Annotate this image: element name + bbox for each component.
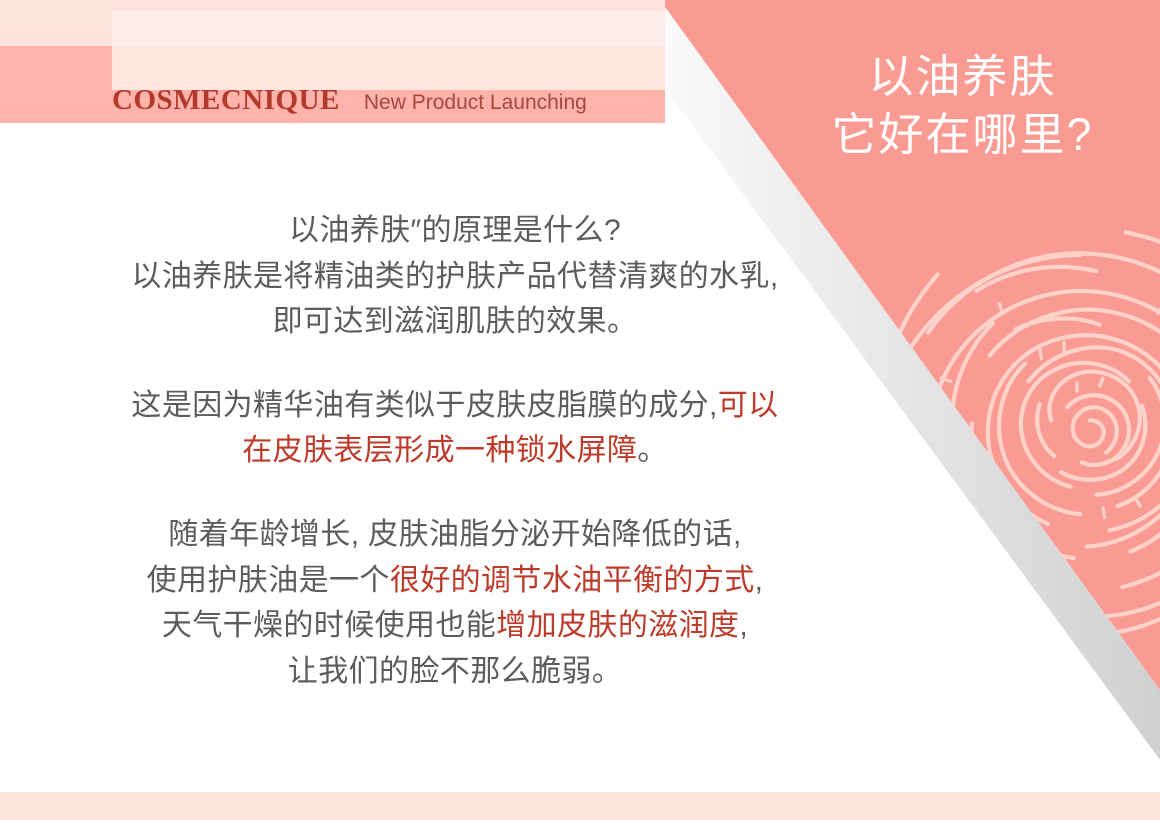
paragraph-1-line-3: 即可达到滋润肌肤的效果。 [273,305,638,338]
paragraph-3-line-1: 随着年龄增长, 皮肤油脂分泌开始降低的话, [168,518,741,551]
paragraph-3-line-2-plain-b: , [755,564,764,597]
paragraph-2: 这是因为精华油有类似于皮肤皮脂膜的成分,可以 在皮肤表层形成一种锁水屏障。 [30,383,880,474]
brand-name: COSMECNIQUE [112,86,340,115]
paragraph-3-line-4: 让我们的脸不那么脆弱。 [288,655,622,688]
brand-tagline: New Product Launching [364,92,587,113]
paragraph-3-line-2-plain-a: 使用护肤油是一个 [147,564,390,597]
brand-lockup: COSMECNIQUE New Product Launching [112,86,665,126]
paragraph-2-line-2-plain: 。 [637,434,667,467]
header-band-inner-light [112,11,665,90]
footer-band [0,792,1160,820]
paragraph-1: 以油养肤″的原理是什么? 以油养肤是将精油类的护肤产品代替清爽的水乳, 即可达到… [30,208,880,345]
paragraph-3-line-3-plain-a: 天气干燥的时候使用也能 [162,609,496,642]
body-copy: 以油养肤″的原理是什么? 以油养肤是将精油类的护肤产品代替清爽的水乳, 即可达到… [30,208,880,694]
paragraph-2-line-1-plain: 这是因为精华油有类似于皮肤皮脂膜的成分, [131,389,717,422]
paragraph-2-line-2: 在皮肤表层形成一种锁水屏障。 [242,434,668,467]
headline-line-2: 它好在哪里? [780,106,1145,164]
paragraph-3-line-3: 天气干燥的时候使用也能增加皮肤的滋润度, [162,609,748,642]
paragraph-1-line-1: 以油养肤″的原理是什么? [289,214,621,247]
paragraph-3: 随着年龄增长, 皮肤油脂分泌开始降低的话, 使用护肤油是一个很好的调节水油平衡的… [30,512,880,694]
paragraph-3-line-2-accent: 很好的调节水油平衡的方式 [390,564,755,597]
paragraph-2-line-1-accent: 可以 [718,389,779,422]
paragraph-2-line-2-accent: 在皮肤表层形成一种锁水屏障 [242,434,637,467]
paragraph-2-line-1: 这是因为精华油有类似于皮肤皮脂膜的成分,可以 [131,389,778,422]
slide-headline: 以油养肤 它好在哪里? [780,48,1145,163]
paragraph-3-line-2: 使用护肤油是一个很好的调节水油平衡的方式, [147,564,764,597]
headline-line-1: 以油养肤 [780,48,1145,106]
slide-canvas: COSMECNIQUE New Product Launching 以油养肤 它… [0,0,1160,820]
paragraph-3-line-3-accent: 增加皮肤的滋润度 [496,609,739,642]
paragraph-1-line-2: 以油养肤是将精油类的护肤产品代替清爽的水乳, [131,260,778,293]
paragraph-3-line-3-plain-b: , [739,609,748,642]
